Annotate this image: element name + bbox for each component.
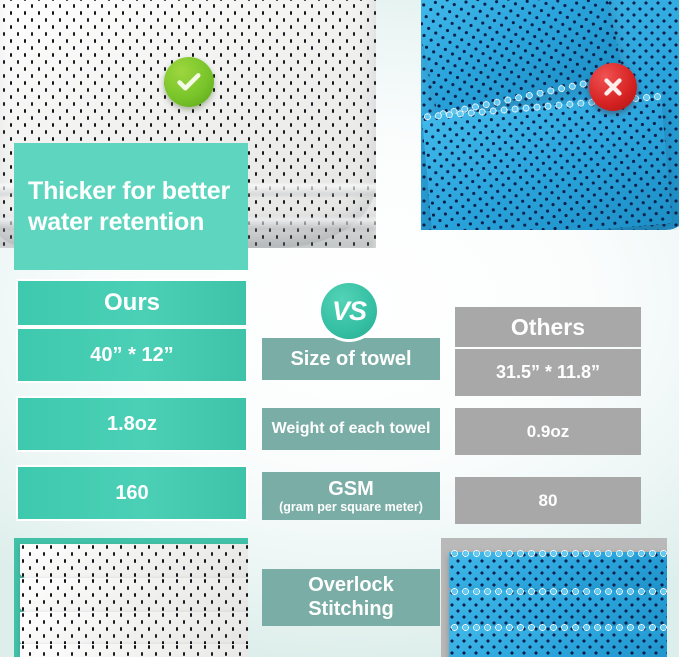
photo-bottom-left-stitching: [14, 538, 248, 657]
ours-column-header: Ours: [18, 281, 246, 325]
overlock-loop-edge: [449, 548, 667, 559]
check-icon: [164, 57, 214, 107]
photo-bottom-right-blue-edge: [441, 538, 667, 657]
blue-towel-stack: [449, 552, 667, 651]
row-label-weight: Weight of each towel: [262, 408, 440, 450]
headline-line-1: Thicker for better: [28, 176, 234, 207]
others-value-size: 31.5” * 11.8”: [455, 349, 641, 396]
ours-value-size: 40” * 12”: [18, 329, 246, 381]
ours-value-gsm: 160: [18, 467, 246, 519]
others-value-gsm: 80: [455, 477, 641, 524]
row-label-gsm-sub: (gram per square meter): [279, 501, 423, 515]
others-value-weight: 0.9oz: [455, 408, 641, 455]
headline-banner: Thicker for better water retention: [14, 143, 248, 270]
blue-towel-flap: [422, 96, 672, 230]
row-label-gsm: GSM (gram per square meter): [262, 472, 440, 520]
row-label-gsm-main: GSM: [328, 478, 374, 500]
overlock-line-2: Stitching: [308, 598, 394, 622]
vs-badge-icon: VS: [321, 283, 377, 339]
photo-top-right-blue-towel: [421, 0, 679, 230]
towel-layer: [20, 644, 248, 657]
overlock-loop-edge: [449, 622, 667, 633]
infographic-canvas: Thicker for better water retention Ours …: [0, 0, 679, 657]
overlock-loop-edge: [449, 586, 667, 597]
blue-towel-layer: [449, 626, 667, 657]
vs-label: VS: [332, 296, 366, 327]
headline-line-2: water retention: [28, 207, 234, 238]
overlock-line-1: Overlock: [308, 574, 394, 598]
towel-stack: [20, 544, 248, 657]
row-label-overlock-stitching: Overlock Stitching: [262, 569, 440, 626]
close-icon: [589, 63, 637, 111]
row-label-size: Size of towel: [262, 338, 440, 380]
ours-value-weight: 1.8oz: [18, 398, 246, 450]
others-column-header: Others: [455, 307, 641, 347]
